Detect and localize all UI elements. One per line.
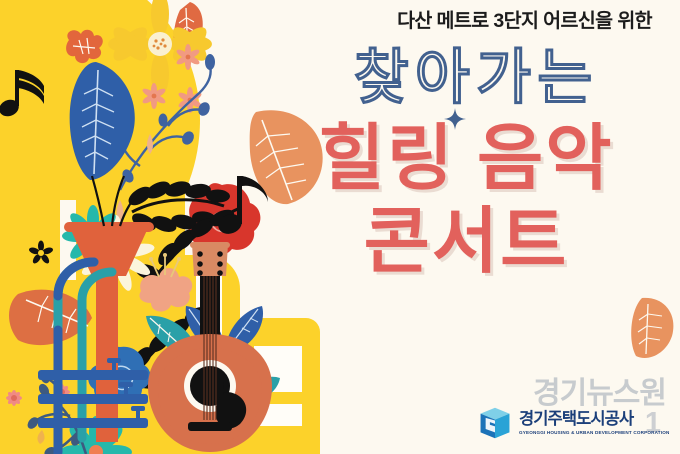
black-mini-flower-icon — [28, 241, 54, 265]
gh-logo-english-name: GYEONGGI HOUSING & URBAN DEVELOPMENT COR… — [519, 430, 669, 436]
gh-cube-logo-icon — [478, 406, 512, 440]
gh-wordmark: 경기주택도시공사 GYEONGGI HOUSING & URBAN DEVELO… — [519, 411, 669, 436]
concert-poster: 다산 메트로 3단지 어르신을 위한 찾아가는 힐링 음악 콘서트 경기뉴스원 … — [0, 0, 680, 454]
orange-leaf-icon-right — [631, 298, 673, 358]
peach-tulip-icon — [139, 253, 192, 312]
orange-blossom-icon — [66, 30, 103, 63]
pink-blossom-branch-icon — [6, 369, 86, 454]
music-note-icon-left — [0, 70, 44, 119]
poster-text-block: 다산 메트로 3단지 어르신을 위한 찾아가는 힐링 음악 콘서트 — [262, 8, 662, 277]
pink-blossom-cluster-icon — [141, 44, 203, 113]
poster-kicker: 다산 메트로 3단지 어르신을 위한 — [262, 8, 662, 34]
blue-leaf-icon-large — [70, 62, 135, 180]
yellow-petal-icon — [37, 430, 44, 444]
poster-title-line-1: 찾아가는 — [262, 48, 662, 108]
gh-corporation-logo: 경기주택도시공사 GYEONGGI HOUSING & URBAN DEVELO… — [478, 406, 669, 440]
poster-title-line-2: 힐링 음악 — [262, 124, 662, 195]
gh-logo-korean-name: 경기주택도시공사 — [519, 411, 669, 428]
poster-title-line-3: 콘서트 — [262, 207, 662, 278]
